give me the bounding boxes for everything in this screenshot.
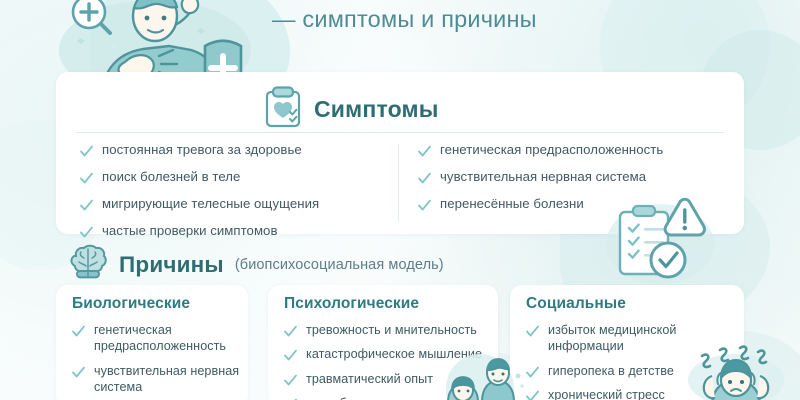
list-item-label: генетическая предрасположенность (440, 142, 663, 159)
list-item-label: постоянная тревога за здоровье (102, 142, 302, 159)
clipboard-checklist-warning-icon (608, 196, 724, 286)
column-list: генетическая предрасположенность чувстви… (72, 322, 240, 400)
check-icon (80, 145, 93, 158)
list-item-label: перенесённые болезни (440, 196, 584, 213)
stressed-woman-illustration-icon (688, 344, 784, 400)
clipboard-heart-icon (264, 86, 302, 133)
check-icon (80, 172, 93, 185)
brain-icon (68, 246, 108, 283)
list-item: мигрирующие телесные ощущения (80, 196, 390, 213)
list-item-label: генетическая предрасположенность (94, 322, 240, 355)
list-item: генетическая предрасположенность (418, 142, 728, 159)
check-icon (72, 325, 85, 338)
list-item: чувствительная нервная система (72, 363, 240, 396)
list-item-label: поиск болезней в теле (102, 169, 240, 186)
check-icon (284, 349, 297, 362)
list-item: частые проверки симптомов (80, 223, 390, 240)
list-item: постоянная тревога за здоровье (80, 142, 390, 159)
causes-subtitle: (биопсихосоциальная модель) (235, 257, 444, 273)
list-item-label: травматический опыт (306, 371, 433, 387)
horizontal-divider (76, 132, 724, 133)
column-title: Социальные (526, 295, 626, 313)
infographic-canvas: — симптомы и причины Симптомы постоянная… (0, 0, 800, 400)
check-icon (284, 325, 297, 338)
list-item-label: чувствительная нервная система (440, 169, 646, 186)
couple-illustration-icon (432, 358, 528, 400)
list-item-label: частые проверки симптомов (102, 223, 278, 240)
check-icon (418, 199, 431, 212)
list-item: чувствительная нервная система (418, 169, 728, 186)
list-item-label: мигрирующие телесные ощущения (102, 196, 319, 213)
symptoms-title: Симптомы (314, 96, 439, 123)
symptoms-list-left: постоянная тревога за здоровье поиск бол… (80, 142, 390, 240)
list-item-label: хронический стресс (548, 387, 665, 400)
check-icon (80, 226, 93, 239)
symptoms-heading: Симптомы (264, 86, 439, 133)
column-title: Биологические (72, 295, 190, 313)
list-item: поиск болезней в теле (80, 169, 390, 186)
check-icon (72, 366, 85, 379)
list-item: генетическая предрасположенность (72, 322, 240, 355)
causes-column-biological: Биологические генетическая предрасположе… (56, 285, 248, 400)
check-icon (284, 374, 297, 387)
column-title: Психологические (284, 295, 419, 313)
list-item-label: чувствительная нервная система (94, 363, 240, 396)
page-title: — симптомы и причины (272, 6, 537, 33)
vertical-divider (398, 144, 399, 222)
list-item-label: тревожность и мнительность (306, 322, 477, 338)
list-item-label: потребность (306, 395, 380, 400)
list-item-label: гиперопека в детстве (548, 363, 674, 379)
list-item: тревожность и мнительность (284, 322, 490, 338)
causes-title: Причины (119, 252, 224, 278)
causes-heading: Причины (биопсихосоциальная модель) (68, 246, 444, 283)
check-icon (418, 172, 431, 185)
header: — симптомы и причины (0, 0, 800, 72)
check-icon (526, 325, 539, 338)
check-icon (418, 145, 431, 158)
check-icon (80, 199, 93, 212)
